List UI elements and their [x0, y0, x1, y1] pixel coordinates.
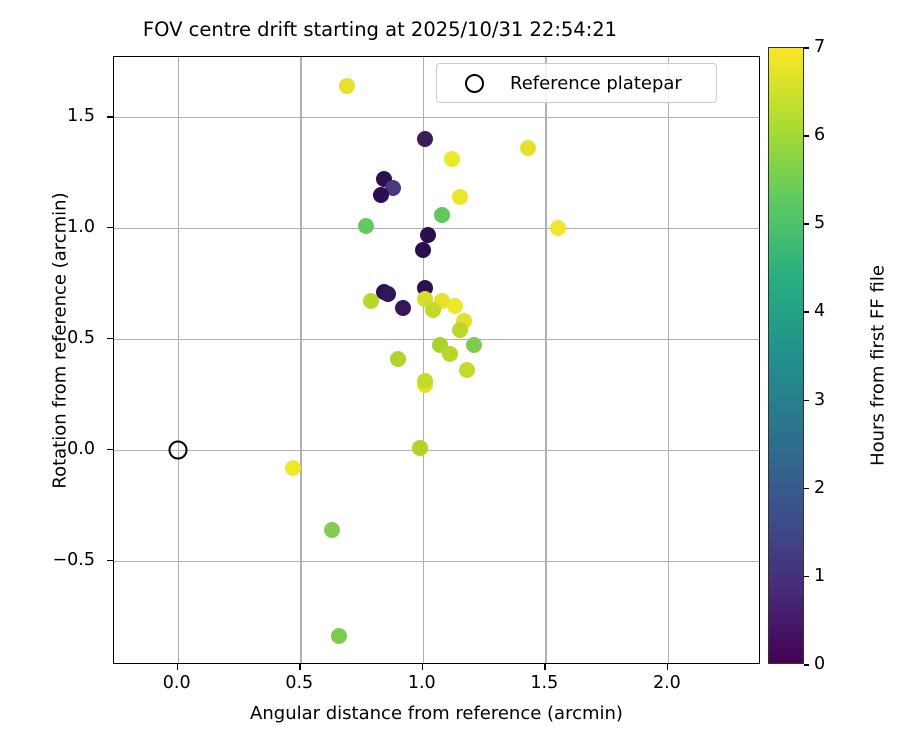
colorbar-tick-label: 4 [814, 301, 825, 321]
scatter-point[interactable] [452, 189, 468, 205]
x-tick-label: 0.0 [163, 673, 191, 693]
colorbar-gradient [768, 47, 804, 664]
colorbar-tick-label: 0 [814, 654, 825, 674]
colorbar-tick [804, 488, 809, 490]
y-tick [107, 560, 113, 562]
legend-label-reference-platepar: Reference platepar [510, 73, 682, 94]
figure-canvas: FOV centre drift starting at 2025/10/31 … [0, 0, 900, 750]
page-title: FOV centre drift starting at 2025/10/31 … [0, 18, 760, 41]
x-tick-label: 0.5 [285, 673, 313, 693]
y-tick-label: 1.0 [67, 217, 95, 237]
colorbar-tick-label: 2 [814, 478, 825, 498]
scatter-point[interactable] [395, 300, 411, 316]
scatter-point[interactable] [420, 227, 436, 243]
colorbar-tick-label: 3 [814, 390, 825, 410]
scatter-point[interactable] [466, 337, 482, 353]
x-tick-label: 1.5 [530, 673, 558, 693]
y-tick-label: 1.5 [67, 106, 95, 126]
gridline-horizontal [114, 561, 759, 562]
gridline-horizontal [114, 450, 759, 451]
scatter-point[interactable] [324, 522, 340, 538]
y-tick-label: 0.5 [67, 328, 95, 348]
scatter-point[interactable] [331, 628, 347, 644]
colorbar-tick-label: 7 [814, 37, 825, 57]
gridline-vertical [178, 57, 179, 663]
gridline-horizontal [114, 228, 759, 229]
scatter-point[interactable] [452, 322, 468, 338]
colorbar-label: Hours from first FF file [868, 86, 889, 646]
legend-marker-reference-platepar [465, 74, 484, 93]
plot-axes[interactable] [113, 56, 760, 664]
x-tick [299, 664, 301, 670]
colorbar-tick [804, 311, 809, 313]
colorbar-tick [804, 223, 809, 225]
y-tick [107, 227, 113, 229]
y-axis-label: Rotation from reference (arcmin) [50, 61, 71, 621]
scatter-point[interactable] [425, 302, 441, 318]
colorbar-tick-label: 6 [814, 125, 825, 145]
colorbar-tick-label: 1 [814, 566, 825, 586]
colorbar[interactable]: 01234567 [768, 47, 804, 664]
gridline-horizontal [114, 117, 759, 118]
gridline-vertical [423, 57, 424, 663]
gridline-vertical [668, 57, 669, 663]
scatter-point[interactable] [442, 346, 458, 362]
y-tick [107, 338, 113, 340]
scatter-point[interactable] [358, 218, 374, 234]
legend[interactable]: Reference platepar [436, 63, 717, 103]
scatter-point[interactable] [390, 351, 406, 367]
gridline-vertical [545, 57, 546, 663]
x-tick [667, 664, 669, 670]
scatter-point[interactable] [459, 362, 475, 378]
colorbar-tick [804, 664, 809, 666]
scatter-point[interactable] [444, 151, 460, 167]
y-tick-label: 0.0 [67, 439, 95, 459]
colorbar-tick [804, 47, 809, 49]
x-tick [544, 664, 546, 670]
scatter-point[interactable] [412, 440, 428, 456]
x-tick-label: 1.0 [408, 673, 436, 693]
scatter-point[interactable] [434, 207, 450, 223]
scatter-point[interactable] [373, 187, 389, 203]
reference-platepar-marker[interactable] [168, 440, 187, 459]
scatter-point[interactable] [550, 220, 566, 236]
scatter-point[interactable] [380, 286, 396, 302]
scatter-point[interactable] [417, 131, 433, 147]
colorbar-tick [804, 576, 809, 578]
x-tick-label: 2.0 [653, 673, 681, 693]
x-tick [422, 664, 424, 670]
scatter-point[interactable] [447, 298, 463, 314]
x-axis-label: Angular distance from reference (arcmin) [113, 703, 760, 724]
y-tick [107, 116, 113, 118]
gridline-vertical [300, 57, 301, 663]
colorbar-tick-label: 5 [814, 213, 825, 233]
scatter-point[interactable] [417, 373, 433, 389]
colorbar-tick [804, 400, 809, 402]
scatter-point[interactable] [415, 242, 431, 258]
scatter-point[interactable] [363, 293, 379, 309]
colorbar-tick [804, 135, 809, 137]
scatter-point[interactable] [520, 140, 536, 156]
x-tick [177, 664, 179, 670]
scatter-point[interactable] [339, 78, 355, 94]
y-tick [107, 449, 113, 451]
scatter-point[interactable] [285, 460, 301, 476]
